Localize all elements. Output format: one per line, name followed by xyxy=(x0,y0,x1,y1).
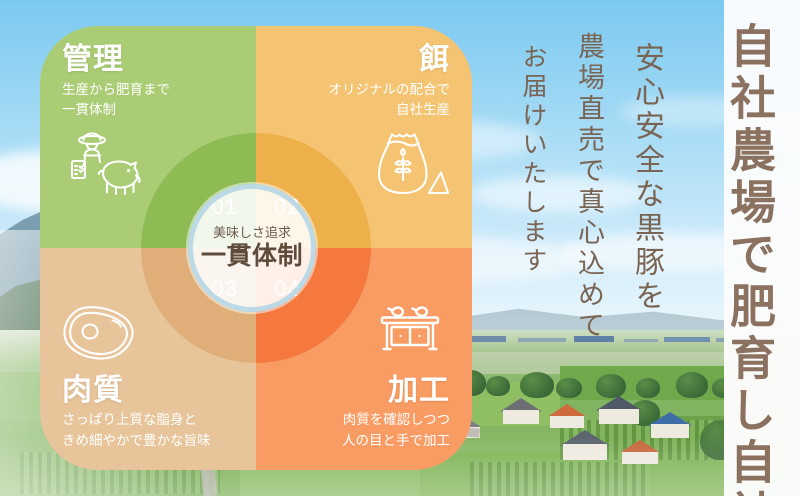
tile-description: オリジナルの配合で 自社生産 xyxy=(329,80,451,122)
headline-vertical-main: 自社農場で肥育し自社で加工 xyxy=(716,22,782,496)
village-house xyxy=(548,404,586,428)
butcher-table-icon xyxy=(378,303,450,361)
village-house xyxy=(596,396,642,424)
village-house xyxy=(648,412,692,438)
headline-vertical-line2: 農場直売で真心込めて xyxy=(570,32,609,342)
tile-description: さっぱり上質な脂身と きめ細やかで豊かな旨味 xyxy=(62,410,211,452)
tile-description: 肉質を確認しつつ 人の目と手で加工 xyxy=(342,410,450,452)
center-badge: 美味しさ追求 一貫体制 xyxy=(188,184,316,312)
tile-title: 管理 xyxy=(62,44,124,76)
farmer-with-pig-icon xyxy=(62,131,146,197)
tree xyxy=(636,378,660,398)
headline-vertical-line3: お届けいたします xyxy=(514,44,550,276)
tile-title: 加工 xyxy=(388,375,450,407)
tile-title: 肉質 xyxy=(62,375,124,407)
feed-sack-icon xyxy=(374,131,450,199)
center-badge-big-label: 一貫体制 xyxy=(201,242,303,271)
cloud xyxy=(470,176,650,212)
tile-description: 生産から肥育まで 一貫体制 xyxy=(62,80,170,122)
tile-title: 餌 xyxy=(419,44,450,76)
tree xyxy=(520,372,554,398)
tree xyxy=(556,378,582,398)
pork-cut-icon xyxy=(62,305,136,361)
village-house xyxy=(500,398,542,424)
tree xyxy=(676,372,708,398)
promo-banner: 自社農場で肥育し自社で加工 安心安全な黒豚を 農場直売で真心込めて お届けいたし… xyxy=(0,0,800,496)
tree xyxy=(486,376,510,396)
center-badge-small-label: 美味しさ追求 xyxy=(213,225,291,241)
tree xyxy=(596,374,626,398)
headline-vertical-line1: 安心安全な黒豚を xyxy=(624,42,668,314)
